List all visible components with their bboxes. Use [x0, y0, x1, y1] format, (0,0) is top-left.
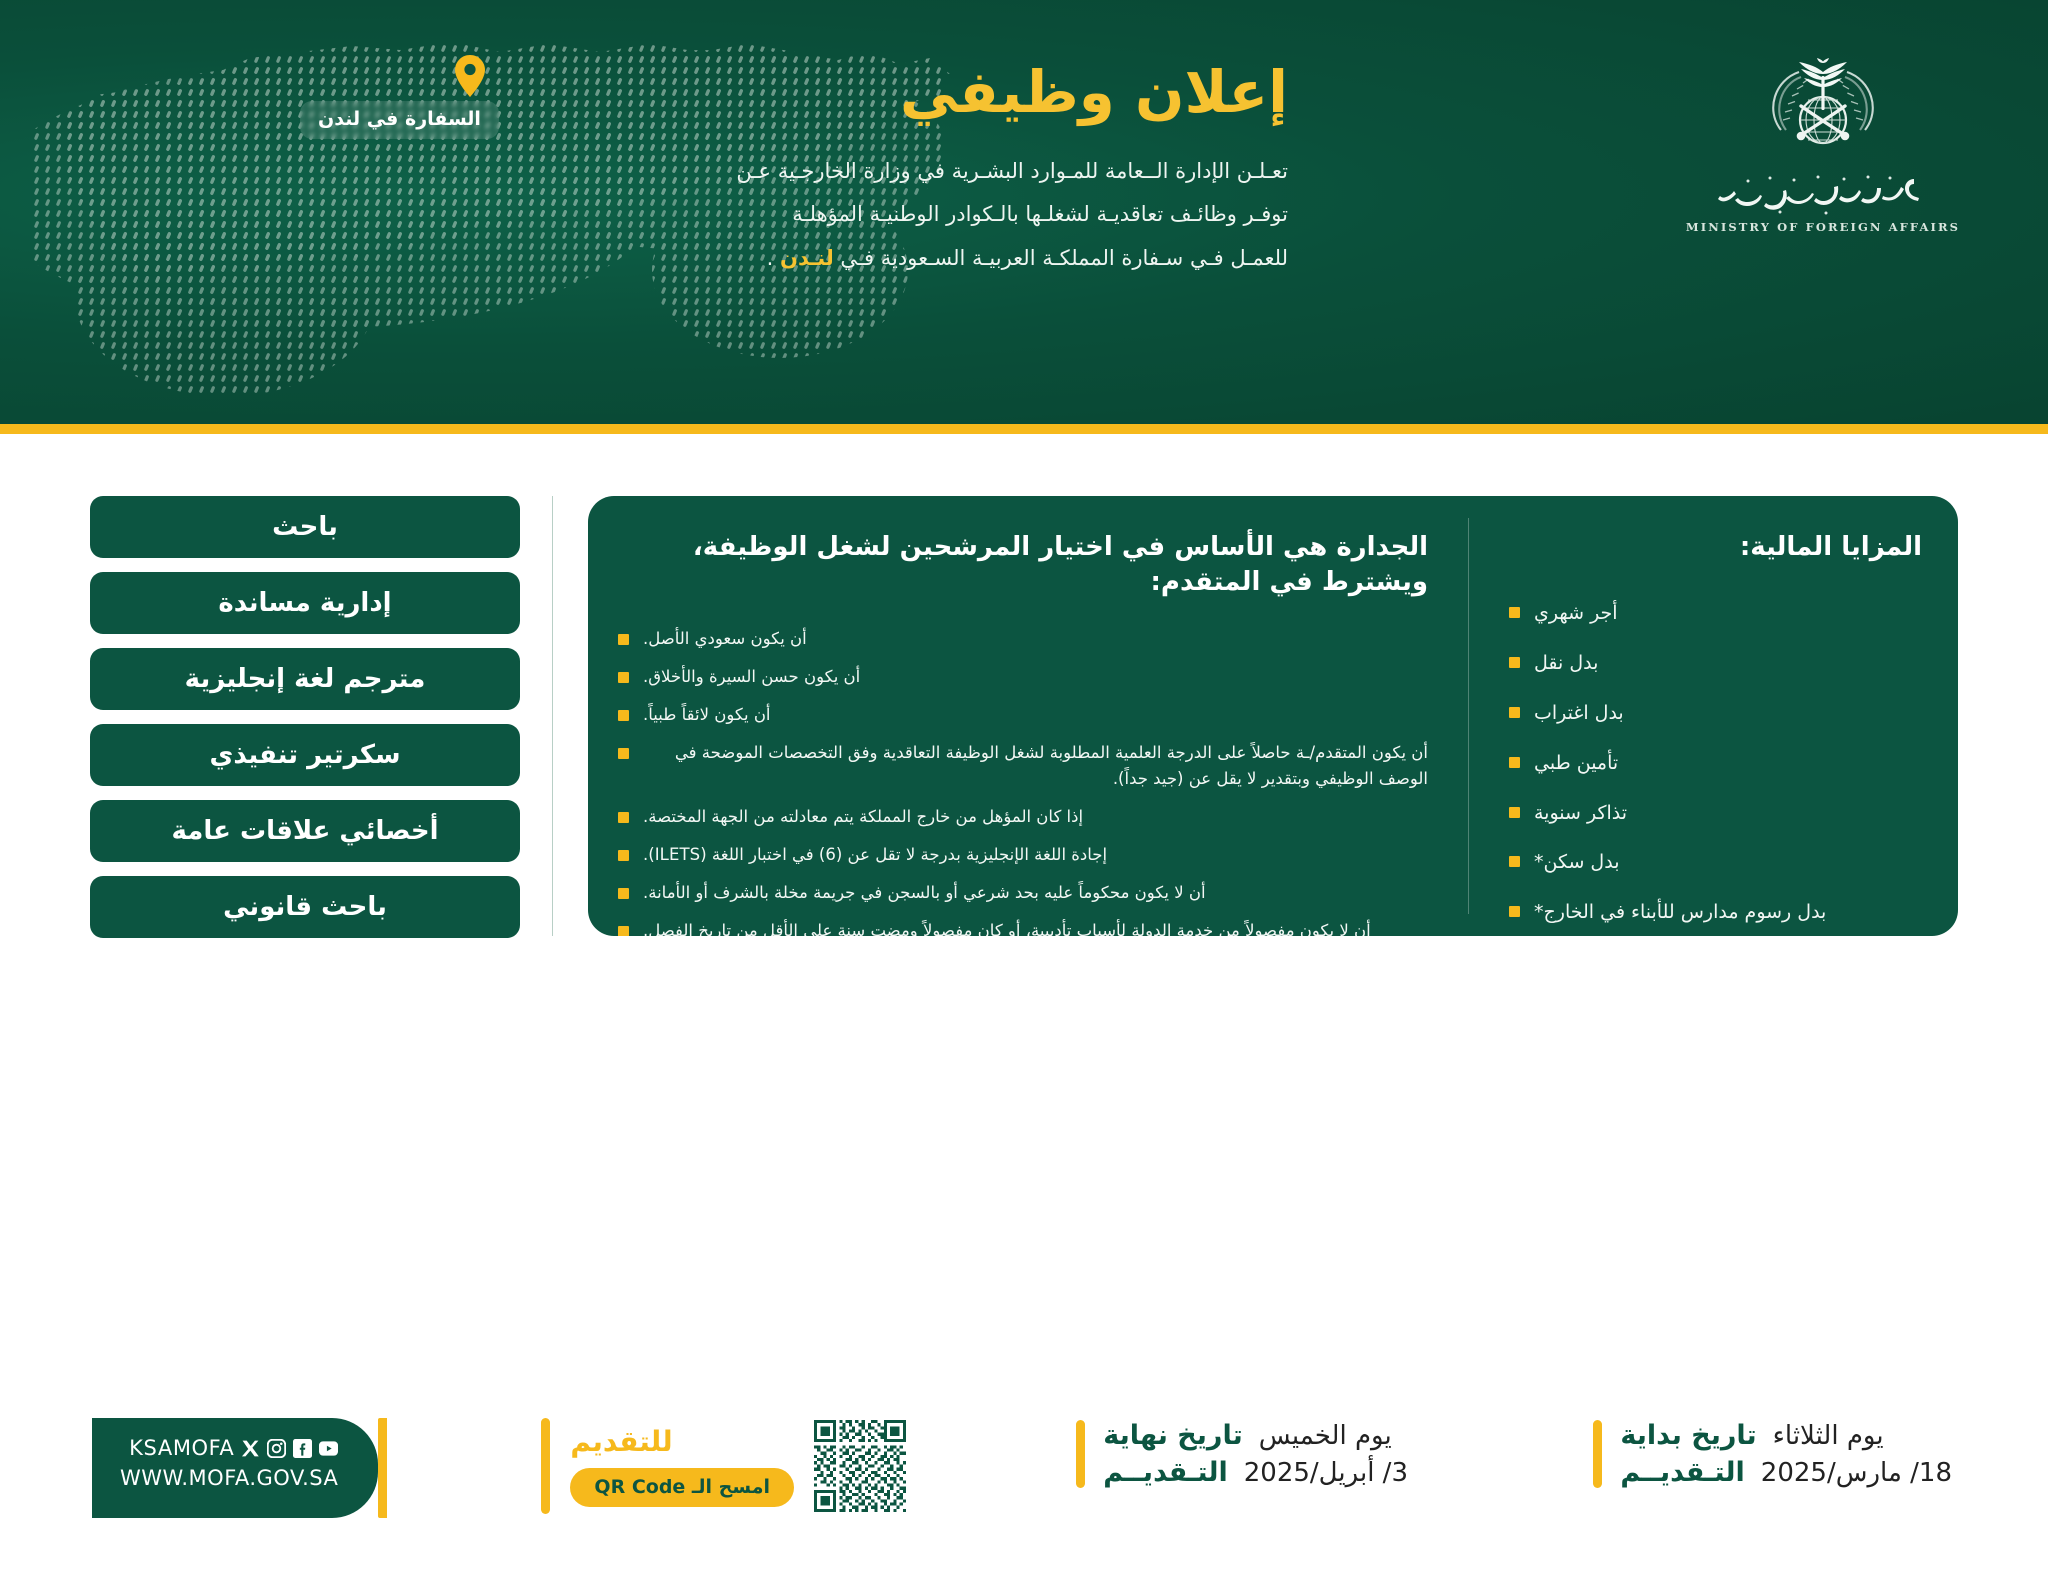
requirements-list: أن يكون سعودي الأصل. أن يكون حسن السيرة … — [618, 626, 1428, 936]
end-date-label-2: التـقديــم — [1103, 1457, 1227, 1488]
header-paragraph: تعـلـن الإدارة الــعامة للمـوارد البشـري… — [588, 150, 1288, 279]
requirement-label: إذا كان المؤهل من خارج المملكة يتم معادل… — [643, 804, 1083, 829]
benefit-item: بدل رسوم مدارس للأبناء في الخارج* — [1509, 898, 1922, 927]
ministry-logo: MINISTRY OF FOREIGN AFFAIRS — [1708, 58, 1938, 243]
benefit-label: تذاكر سنوية — [1534, 799, 1627, 828]
ministry-name-arabic-calligraphy — [1718, 172, 1928, 218]
requirement-label: أن يكون سعودي الأصل. — [643, 626, 807, 651]
benefit-label: بدل رسوم مدارس للأبناء في الخارج* — [1534, 898, 1826, 927]
header-banner: السفارة في لندن إعلان وظيفي تعـلـن الإدا… — [0, 0, 2048, 434]
social-accent-bar — [378, 1418, 387, 1518]
saudi-mofa-emblem-icon — [1759, 58, 1887, 168]
application-end-date: يوم الخميس تاريخ نهاية 3/ أبريل/2025 الت… — [1076, 1420, 1408, 1488]
requirement-label: أن لا يكون محكوماً عليه بحد شرعي أو بالس… — [643, 880, 1206, 905]
start-date-accent-bar — [1593, 1420, 1602, 1488]
header-paragraph-line-3-pre: للعمـل فـي سـفارة المملكـة العربيـة السـ… — [834, 246, 1288, 270]
bullet-square-icon — [618, 850, 629, 861]
requirement-label: أن يكون المتقدم/ـة حاصلاً على الدرجة الع… — [643, 740, 1428, 790]
benefit-label: بدل اغتراب — [1534, 699, 1624, 728]
start-date-day: يوم الثلاثاء — [1773, 1421, 1884, 1451]
start-date-label-2: التـقديــم — [1620, 1457, 1744, 1488]
requirement-item: أن يكون حسن السيرة والأخلاق. — [618, 664, 1428, 689]
requirement-label: أن يكون لائقاً طبياً. — [643, 702, 771, 727]
job-title-item-1[interactable]: إدارية مساندة — [90, 572, 520, 634]
apply-title: للتقديم — [570, 1425, 672, 1458]
page-title: إعلان وظيفي — [588, 58, 1288, 126]
benefits-list: أجر شهري بدل نقل بدل اغتراب تأمين طبي تذ… — [1509, 599, 1922, 927]
location-pin-icon — [455, 55, 485, 97]
city-highlight: لنـدن — [780, 246, 834, 270]
header-gold-divider — [0, 424, 2048, 434]
requirement-item: إذا كان المؤهل من خارج المملكة يتم معادل… — [618, 804, 1428, 829]
benefits-title: المزايا المالية: — [1509, 530, 1922, 565]
bullet-square-icon — [1509, 607, 1520, 618]
requirement-item: أن يكون لائقاً طبياً. — [618, 702, 1428, 727]
bullet-square-icon — [1509, 856, 1520, 867]
bullet-square-icon — [618, 672, 629, 683]
map-pin-label: السفارة في لندن — [300, 101, 499, 139]
website-url[interactable]: WWW.MOFA.GOV.SA — [120, 1466, 338, 1490]
header-paragraph-line-1: تعـلـن الإدارة الــعامة للمـوارد البشـري… — [588, 150, 1288, 193]
bullet-square-icon — [1509, 807, 1520, 818]
footer: يوم الثلاثاء تاريخ بداية 18/ مارس/2025 ا… — [0, 1400, 2048, 1586]
header-paragraph-line-2: توفـر وظائـف تعاقديـة لشغلـها بالـكوادر … — [588, 193, 1288, 236]
job-title-item-3[interactable]: سكرتير تنفيذي — [90, 724, 520, 786]
benefit-label: تأمين طبي — [1534, 749, 1618, 778]
embassy-map-pin: السفارة في لندن — [300, 55, 560, 165]
facebook-icon[interactable] — [293, 1439, 312, 1458]
bullet-square-icon — [1509, 657, 1520, 668]
social-handle: KSAMOFA — [129, 1436, 234, 1460]
panel-vertical-divider — [1468, 518, 1469, 914]
jobs-vertical-divider — [552, 496, 553, 936]
bullet-square-icon — [618, 926, 629, 936]
benefit-item: تأمين طبي — [1509, 749, 1922, 778]
end-date-day: يوم الخميس — [1259, 1421, 1392, 1451]
benefit-item: بدل نقل — [1509, 649, 1922, 678]
requirements-title: الجدارة هي الأساس في اختيار المرشحين لشغ… — [618, 530, 1428, 600]
requirement-label: إجادة اللغة الإنجليزية بدرجة لا تقل عن (… — [643, 842, 1107, 867]
ministry-name-english: MINISTRY OF FOREIGN AFFAIRS — [1686, 220, 1960, 234]
start-date-label-1: تاريخ بداية — [1620, 1420, 1756, 1451]
benefit-item: بدل اغتراب — [1509, 699, 1922, 728]
job-title-item-2[interactable]: مترجم لغة إنجليزية — [90, 648, 520, 710]
requirement-item: أن لا يكون مفصولاً من خدمة الدولة لأسباب… — [618, 918, 1428, 936]
end-date-label-1: تاريخ نهاية — [1103, 1420, 1242, 1451]
instagram-icon[interactable] — [267, 1439, 286, 1458]
end-date-accent-bar — [1076, 1420, 1085, 1488]
bullet-square-icon — [1509, 757, 1520, 768]
requirements-section: الجدارة هي الأساس في اختيار المرشحين لشغ… — [588, 496, 1468, 936]
benefit-item: تذاكر سنوية — [1509, 799, 1922, 828]
benefit-label: بدل نقل — [1534, 649, 1598, 678]
benefit-label: بدل سكن* — [1534, 848, 1619, 877]
job-title-item-5[interactable]: باحث قانوني — [90, 876, 520, 938]
body-area: باحث إدارية مساندة مترجم لغة إنجليزية سك… — [0, 434, 2048, 1152]
job-title-item-0[interactable]: باحث — [90, 496, 520, 558]
details-panel: المزايا المالية: أجر شهري بدل نقل بدل اغ… — [588, 496, 1958, 936]
requirement-item: إجادة اللغة الإنجليزية بدرجة لا تقل عن (… — [618, 842, 1428, 867]
apply-accent-bar — [541, 1418, 550, 1514]
requirement-item: أن يكون المتقدم/ـة حاصلاً على الدرجة الع… — [618, 740, 1428, 790]
requirement-label: أن لا يكون مفصولاً من خدمة الدولة لأسباب… — [643, 918, 1371, 936]
social-links-block: KSAMOFA WWW.MOFA.GOV.SA — [92, 1418, 387, 1518]
header-paragraph-line-3-post: . — [767, 246, 780, 270]
bullet-square-icon — [618, 812, 629, 823]
header-paragraph-line-3: للعمـل فـي سـفارة المملكـة العربيـة السـ… — [588, 237, 1288, 280]
x-twitter-icon[interactable] — [241, 1439, 260, 1458]
bullet-square-icon — [618, 888, 629, 899]
apply-section: للتقديم امسح الـ QR Code — [541, 1418, 912, 1514]
financial-benefits-section: المزايا المالية: أجر شهري بدل نقل بدل اغ… — [1469, 496, 1958, 936]
start-date-value: 18/ مارس/2025 — [1761, 1458, 1952, 1488]
end-date-value: 3/ أبريل/2025 — [1244, 1458, 1408, 1488]
requirement-label: أن يكون حسن السيرة والأخلاق. — [643, 664, 860, 689]
bullet-square-icon — [618, 710, 629, 721]
job-titles-list: باحث إدارية مساندة مترجم لغة إنجليزية سك… — [90, 496, 520, 938]
youtube-icon[interactable] — [319, 1439, 338, 1458]
bullet-square-icon — [618, 748, 629, 759]
bullet-square-icon — [1509, 906, 1520, 917]
qr-code-icon[interactable] — [814, 1420, 906, 1512]
benefit-item: بدل سكن* — [1509, 848, 1922, 877]
application-start-date: يوم الثلاثاء تاريخ بداية 18/ مارس/2025 ا… — [1593, 1420, 1952, 1488]
bullet-square-icon — [1509, 707, 1520, 718]
job-title-item-4[interactable]: أخصائي علاقات عامة — [90, 800, 520, 862]
requirement-item: أن يكون سعودي الأصل. — [618, 626, 1428, 651]
scan-qr-button[interactable]: امسح الـ QR Code — [570, 1468, 794, 1507]
bullet-square-icon — [618, 634, 629, 645]
header-text-block: إعلان وظيفي تعـلـن الإدارة الــعامة للمـ… — [588, 58, 1288, 280]
benefit-label: أجر شهري — [1534, 599, 1618, 628]
benefit-item: أجر شهري — [1509, 599, 1922, 628]
requirement-item: أن لا يكون محكوماً عليه بحد شرعي أو بالس… — [618, 880, 1428, 905]
